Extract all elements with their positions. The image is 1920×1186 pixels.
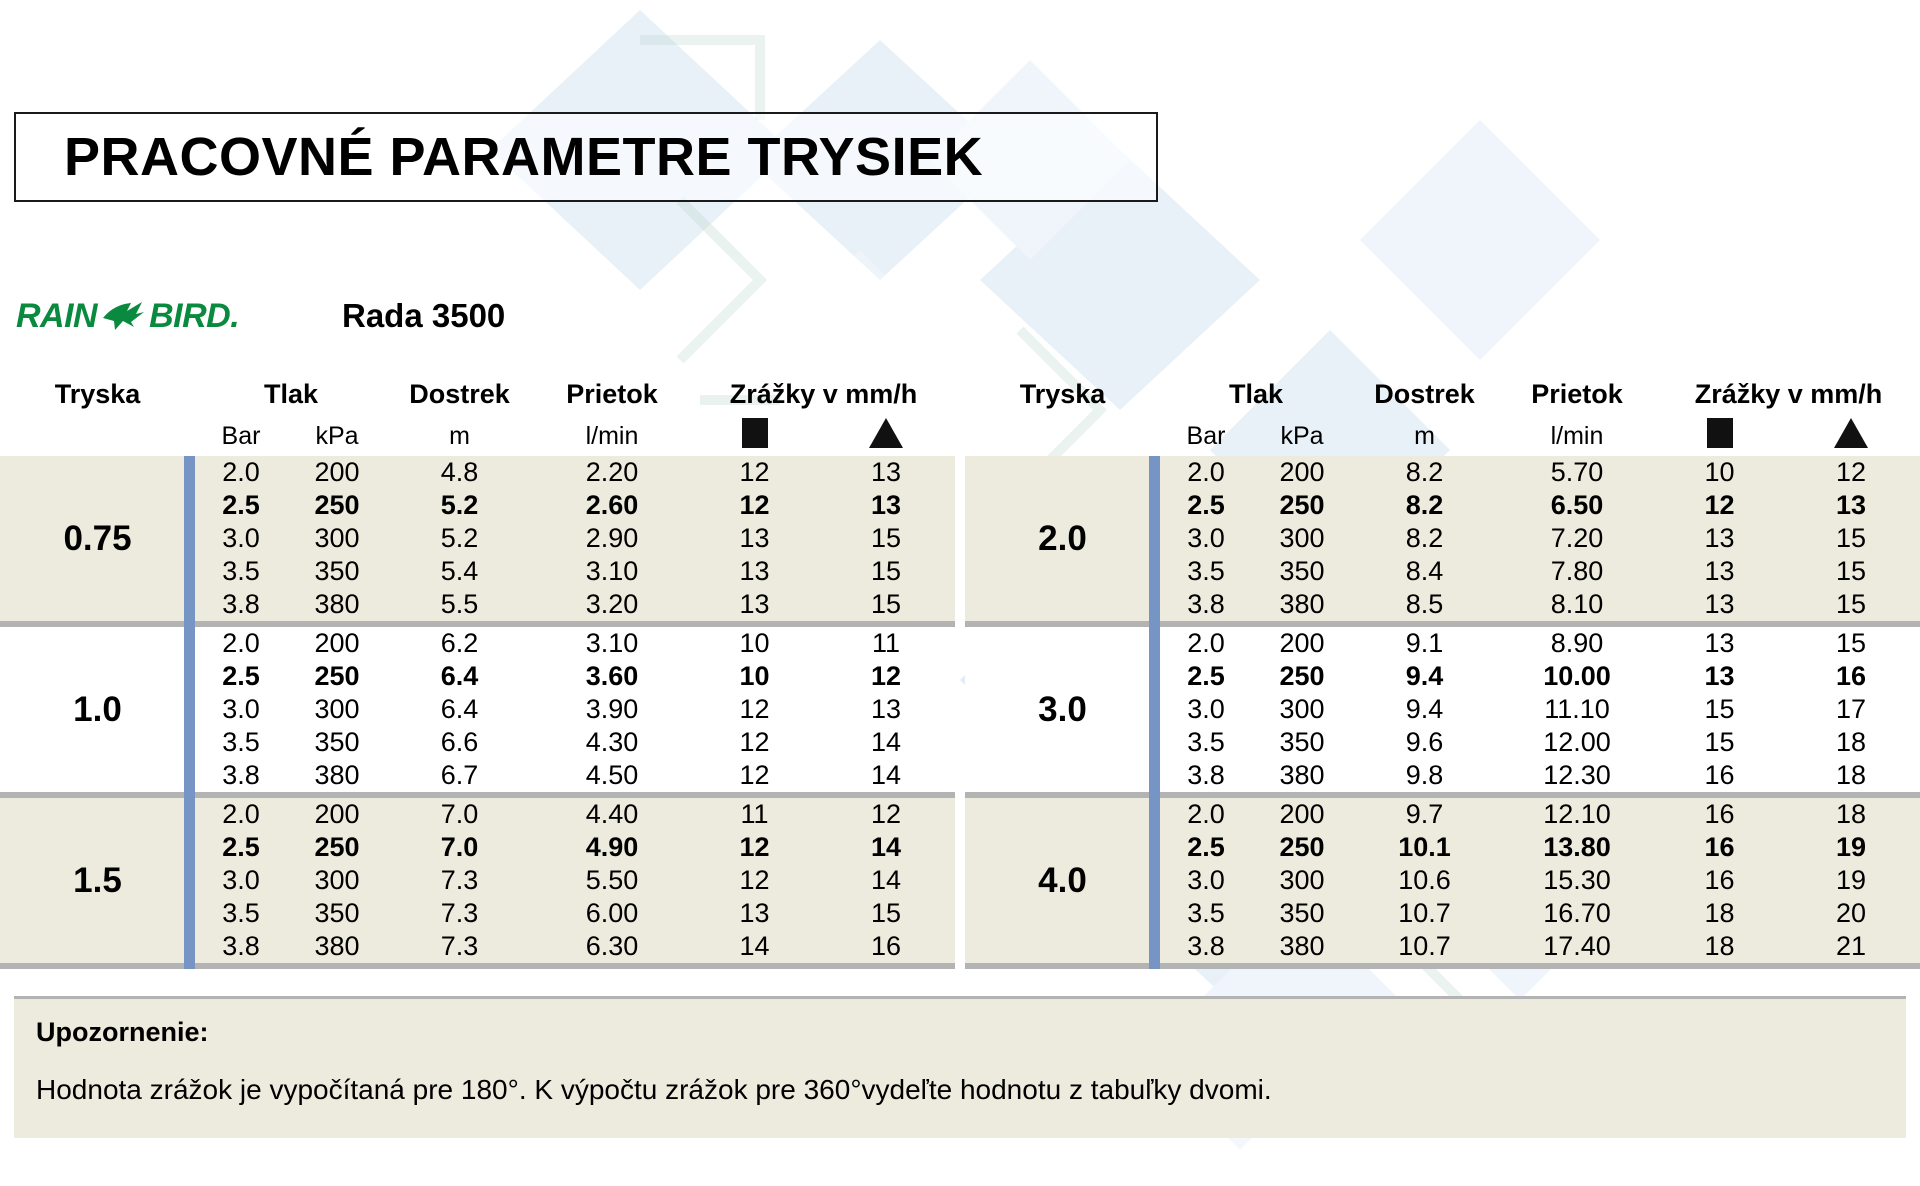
cell-radius: 6.2 [387, 627, 532, 660]
table-row: 4.02.02009.712.101618 [965, 798, 1920, 831]
cell-precip-triangle: 19 [1782, 831, 1920, 864]
cell-precip-triangle: 15 [817, 522, 955, 555]
cell-precip-triangle: 15 [1782, 627, 1920, 660]
cell-precip-square: 13 [1657, 627, 1782, 660]
cell-precip-square: 16 [1657, 864, 1782, 897]
cell-radius: 8.4 [1352, 555, 1497, 588]
cell-bar: 3.0 [195, 522, 287, 555]
cell-precip-triangle: 16 [1782, 660, 1920, 693]
cell-flow: 2.20 [532, 456, 692, 489]
cell-precip-triangle: 20 [1782, 897, 1920, 930]
cell-radius: 8.2 [1352, 489, 1497, 522]
cell-flow: 3.90 [532, 693, 692, 726]
cell-bar: 2.0 [1160, 798, 1252, 831]
cell-flow: 4.50 [532, 759, 692, 792]
bird-icon [101, 300, 145, 337]
cell-flow: 3.60 [532, 660, 692, 693]
cell-precip-triangle: 12 [1782, 456, 1920, 489]
cell-kpa: 380 [1252, 930, 1352, 963]
nozzle-size-cell: 2.0 [965, 456, 1160, 621]
cell-bar: 3.0 [1160, 522, 1252, 555]
cell-flow: 12.30 [1497, 759, 1657, 792]
cell-bar: 2.5 [195, 489, 287, 522]
cell-flow: 10.00 [1497, 660, 1657, 693]
cell-flow: 12.10 [1497, 798, 1657, 831]
cell-radius: 10.1 [1352, 831, 1497, 864]
cell-bar: 2.0 [195, 456, 287, 489]
cell-flow: 8.90 [1497, 627, 1657, 660]
cell-radius: 4.8 [387, 456, 532, 489]
cell-bar: 2.0 [1160, 456, 1252, 489]
table-subheader-row: Bar kPa m l/min [0, 416, 955, 456]
cell-precip-square: 13 [692, 588, 817, 621]
cell-bar: 3.8 [195, 588, 287, 621]
cell-kpa: 250 [1252, 831, 1352, 864]
cell-bar: 3.5 [1160, 555, 1252, 588]
cell-flow: 2.60 [532, 489, 692, 522]
cell-kpa: 380 [287, 588, 387, 621]
table-header-row: Tryska Tlak Dostrek Prietok Zrážky v mm/… [965, 372, 1920, 416]
cell-bar: 3.0 [1160, 693, 1252, 726]
cell-precip-triangle: 14 [817, 864, 955, 897]
cell-kpa: 250 [287, 489, 387, 522]
cell-radius: 6.4 [387, 660, 532, 693]
cell-precip-triangle: 13 [1782, 489, 1920, 522]
cell-kpa: 350 [287, 897, 387, 930]
cell-bar: 3.5 [195, 897, 287, 930]
cell-bar: 2.0 [195, 798, 287, 831]
cell-bar: 2.5 [1160, 489, 1252, 522]
cell-kpa: 350 [1252, 555, 1352, 588]
cell-kpa: 350 [1252, 726, 1352, 759]
cell-precip-triangle: 15 [1782, 522, 1920, 555]
page-title-box: PRACOVNÉ PARAMETRE TRYSIEK [14, 112, 1158, 202]
col-subheader-nozzle-empty [0, 416, 195, 456]
table-row: 1.02.02006.23.101011 [0, 627, 955, 660]
cell-kpa: 300 [287, 864, 387, 897]
cell-precip-triangle: 15 [817, 555, 955, 588]
cell-kpa: 380 [287, 930, 387, 963]
group-separator [965, 963, 1920, 969]
cell-radius: 9.7 [1352, 798, 1497, 831]
col-header-flow: Prietok [532, 372, 692, 416]
col-unit-bar: Bar [195, 416, 287, 456]
square-icon [692, 416, 817, 456]
cell-flow: 3.10 [532, 555, 692, 588]
cell-bar: 3.5 [195, 555, 287, 588]
cell-precip-triangle: 15 [1782, 555, 1920, 588]
cell-precip-triangle: 15 [817, 897, 955, 930]
cell-kpa: 300 [1252, 864, 1352, 897]
cell-precip-triangle: 19 [1782, 864, 1920, 897]
triangle-icon [1782, 416, 1920, 456]
cell-kpa: 250 [287, 831, 387, 864]
cell-bar: 2.0 [195, 627, 287, 660]
cell-radius: 5.2 [387, 522, 532, 555]
cell-radius: 7.3 [387, 864, 532, 897]
triangle-icon [817, 416, 955, 456]
cell-flow: 2.90 [532, 522, 692, 555]
cell-flow: 5.70 [1497, 456, 1657, 489]
cell-kpa: 200 [287, 627, 387, 660]
table-row: 1.52.02007.04.401112 [0, 798, 955, 831]
cell-precip-square: 13 [692, 522, 817, 555]
cell-precip-square: 10 [1657, 456, 1782, 489]
col-unit-m: m [1352, 416, 1497, 456]
cell-precip-square: 10 [692, 660, 817, 693]
group-separator [0, 963, 955, 969]
cell-bar: 2.5 [1160, 660, 1252, 693]
col-header-precip: Zrážky v mm/h [692, 372, 955, 416]
logo-text-bird: BIRD. [149, 299, 239, 333]
series-label: Rada 3500 [342, 297, 505, 335]
cell-kpa: 200 [287, 798, 387, 831]
cell-bar: 3.5 [195, 726, 287, 759]
cell-precip-square: 12 [692, 864, 817, 897]
cell-radius: 9.8 [1352, 759, 1497, 792]
cell-bar: 3.5 [1160, 897, 1252, 930]
cell-precip-square: 12 [692, 759, 817, 792]
cell-kpa: 300 [1252, 693, 1352, 726]
cell-precip-square: 12 [1657, 489, 1782, 522]
cell-flow: 4.30 [532, 726, 692, 759]
col-header-nozzle: Tryska [0, 372, 195, 416]
cell-bar: 3.0 [195, 864, 287, 897]
cell-precip-triangle: 13 [817, 693, 955, 726]
cell-kpa: 300 [287, 522, 387, 555]
cell-radius: 10.7 [1352, 897, 1497, 930]
cell-kpa: 380 [287, 759, 387, 792]
col-header-nozzle: Tryska [965, 372, 1160, 416]
cell-precip-square: 15 [1657, 726, 1782, 759]
cell-precip-square: 13 [692, 897, 817, 930]
cell-precip-triangle: 15 [1782, 588, 1920, 621]
cell-radius: 9.4 [1352, 693, 1497, 726]
col-header-pressure: Tlak [195, 372, 387, 416]
cell-flow: 12.00 [1497, 726, 1657, 759]
cell-radius: 7.3 [387, 897, 532, 930]
table-subheader-row: Bar kPa m l/min [965, 416, 1920, 456]
cell-bar: 2.0 [1160, 627, 1252, 660]
spec-tables: Tryska Tlak Dostrek Prietok Zrážky v mm/… [0, 372, 1920, 969]
cell-kpa: 200 [1252, 627, 1352, 660]
cell-flow: 4.90 [532, 831, 692, 864]
cell-flow: 11.10 [1497, 693, 1657, 726]
cell-radius: 7.0 [387, 831, 532, 864]
table-row: 0.752.02004.82.201213 [0, 456, 955, 489]
cell-radius: 7.3 [387, 930, 532, 963]
cell-flow: 6.50 [1497, 489, 1657, 522]
cell-precip-square: 12 [692, 456, 817, 489]
nozzle-group: 1.02.02006.23.1010112.52506.43.6010123.0… [0, 627, 955, 792]
cell-precip-triangle: 18 [1782, 759, 1920, 792]
cell-flow: 3.10 [532, 627, 692, 660]
cell-precip-square: 13 [1657, 588, 1782, 621]
nozzle-group: 2.02.02008.25.7010122.52508.26.5012133.0… [965, 456, 1920, 621]
cell-precip-triangle: 13 [817, 456, 955, 489]
cell-precip-triangle: 16 [817, 930, 955, 963]
col-unit-lmin: l/min [1497, 416, 1657, 456]
col-unit-kpa: kPa [287, 416, 387, 456]
cell-radius: 9.4 [1352, 660, 1497, 693]
logo-text-rain: RAIN [16, 299, 97, 333]
cell-radius: 5.2 [387, 489, 532, 522]
nozzle-group: 0.752.02004.82.2012132.52505.22.6012133.… [0, 456, 955, 621]
col-header-pressure: Tlak [1160, 372, 1352, 416]
cell-kpa: 250 [1252, 489, 1352, 522]
cell-precip-square: 12 [692, 726, 817, 759]
cell-radius: 8.5 [1352, 588, 1497, 621]
notice-text: Hodnota zrážok je vypočítaná pre 180°. K… [36, 1074, 1884, 1106]
square-icon [1657, 416, 1782, 456]
cell-kpa: 350 [1252, 897, 1352, 930]
cell-precip-triangle: 12 [817, 660, 955, 693]
separator-cell [195, 963, 955, 969]
cell-bar: 3.0 [1160, 864, 1252, 897]
cell-radius: 7.0 [387, 798, 532, 831]
cell-flow: 8.10 [1497, 588, 1657, 621]
cell-precip-square: 11 [692, 798, 817, 831]
cell-kpa: 200 [1252, 456, 1352, 489]
cell-bar: 2.5 [1160, 831, 1252, 864]
cell-flow: 15.30 [1497, 864, 1657, 897]
cell-flow: 7.20 [1497, 522, 1657, 555]
spec-table-right: Tryska Tlak Dostrek Prietok Zrážky v mm/… [965, 372, 1920, 969]
cell-kpa: 200 [287, 456, 387, 489]
cell-precip-square: 16 [1657, 798, 1782, 831]
cell-bar: 3.8 [1160, 759, 1252, 792]
cell-precip-square: 12 [692, 489, 817, 522]
cell-kpa: 250 [287, 660, 387, 693]
cell-precip-square: 18 [1657, 897, 1782, 930]
cell-precip-triangle: 14 [817, 831, 955, 864]
nozzle-group: 4.02.02009.712.1016182.525010.113.801619… [965, 798, 1920, 963]
cell-flow: 16.70 [1497, 897, 1657, 930]
page-title: PRACOVNÉ PARAMETRE TRYSIEK [16, 126, 983, 188]
col-subheader-nozzle-empty [965, 416, 1160, 456]
cell-radius: 10.6 [1352, 864, 1497, 897]
spec-table-left: Tryska Tlak Dostrek Prietok Zrážky v mm/… [0, 372, 955, 969]
nozzle-table-right: Tryska Tlak Dostrek Prietok Zrážky v mm/… [965, 372, 1920, 969]
table-row: 2.02.02008.25.701012 [965, 456, 1920, 489]
cell-flow: 6.30 [532, 930, 692, 963]
cell-bar: 3.8 [195, 930, 287, 963]
separator-nozzle-cell [965, 963, 1160, 969]
cell-precip-triangle: 11 [817, 627, 955, 660]
cell-radius: 6.4 [387, 693, 532, 726]
cell-flow: 4.40 [532, 798, 692, 831]
cell-precip-triangle: 18 [1782, 798, 1920, 831]
cell-precip-square: 12 [692, 831, 817, 864]
cell-flow: 7.80 [1497, 555, 1657, 588]
cell-kpa: 380 [1252, 759, 1352, 792]
nozzle-group: 1.52.02007.04.4011122.52507.04.9012143.0… [0, 798, 955, 963]
cell-radius: 9.6 [1352, 726, 1497, 759]
cell-flow: 5.50 [532, 864, 692, 897]
cell-radius: 6.6 [387, 726, 532, 759]
cell-kpa: 350 [287, 726, 387, 759]
cell-flow: 6.00 [532, 897, 692, 930]
nozzle-size-cell: 3.0 [965, 627, 1160, 792]
col-unit-bar: Bar [1160, 416, 1252, 456]
cell-kpa: 250 [1252, 660, 1352, 693]
cell-radius: 10.7 [1352, 930, 1497, 963]
cell-precip-square: 13 [1657, 555, 1782, 588]
col-header-radius: Dostrek [1352, 372, 1497, 416]
cell-bar: 3.0 [195, 693, 287, 726]
separator-cell [1160, 963, 1920, 969]
col-header-flow: Prietok [1497, 372, 1657, 416]
cell-precip-triangle: 13 [817, 489, 955, 522]
cell-radius: 8.2 [1352, 522, 1497, 555]
table-row: 3.02.02009.18.901315 [965, 627, 1920, 660]
cell-bar: 3.8 [195, 759, 287, 792]
nozzle-size-cell: 1.0 [0, 627, 195, 792]
cell-precip-square: 18 [1657, 930, 1782, 963]
cell-flow: 17.40 [1497, 930, 1657, 963]
nozzle-group: 3.02.02009.18.9013152.52509.410.0013163.… [965, 627, 1920, 792]
col-header-radius: Dostrek [387, 372, 532, 416]
cell-kpa: 380 [1252, 588, 1352, 621]
col-header-precip: Zrážky v mm/h [1657, 372, 1920, 416]
col-unit-m: m [387, 416, 532, 456]
cell-bar: 3.5 [1160, 726, 1252, 759]
cell-precip-square: 16 [1657, 831, 1782, 864]
cell-precip-square: 16 [1657, 759, 1782, 792]
col-unit-lmin: l/min [532, 416, 692, 456]
cell-kpa: 300 [287, 693, 387, 726]
cell-precip-triangle: 12 [817, 798, 955, 831]
notice-label: Upozornenie: [36, 1017, 1884, 1048]
cell-precip-square: 10 [692, 627, 817, 660]
col-unit-kpa: kPa [1252, 416, 1352, 456]
cell-precip-triangle: 14 [817, 726, 955, 759]
cell-radius: 8.2 [1352, 456, 1497, 489]
cell-kpa: 350 [287, 555, 387, 588]
cell-radius: 5.4 [387, 555, 532, 588]
cell-precip-square: 13 [1657, 522, 1782, 555]
cell-precip-triangle: 14 [817, 759, 955, 792]
cell-flow: 3.20 [532, 588, 692, 621]
cell-precip-triangle: 15 [817, 588, 955, 621]
table-header-row: Tryska Tlak Dostrek Prietok Zrážky v mm/… [0, 372, 955, 416]
cell-flow: 13.80 [1497, 831, 1657, 864]
cell-bar: 2.5 [195, 660, 287, 693]
cell-precip-square: 13 [1657, 660, 1782, 693]
cell-radius: 6.7 [387, 759, 532, 792]
cell-kpa: 300 [1252, 522, 1352, 555]
cell-kpa: 200 [1252, 798, 1352, 831]
brand-row: RAIN BIRD. Rada 3500 [16, 288, 916, 344]
cell-bar: 3.8 [1160, 930, 1252, 963]
cell-bar: 2.5 [195, 831, 287, 864]
cell-precip-triangle: 18 [1782, 726, 1920, 759]
cell-bar: 3.8 [1160, 588, 1252, 621]
cell-precip-square: 15 [1657, 693, 1782, 726]
cell-precip-square: 13 [692, 555, 817, 588]
cell-precip-triangle: 17 [1782, 693, 1920, 726]
cell-precip-triangle: 21 [1782, 930, 1920, 963]
cell-radius: 5.5 [387, 588, 532, 621]
nozzle-size-cell: 0.75 [0, 456, 195, 621]
cell-precip-square: 12 [692, 693, 817, 726]
notice-box: Upozornenie: Hodnota zrážok je vypočítan… [14, 996, 1906, 1138]
nozzle-size-cell: 4.0 [965, 798, 1160, 963]
cell-radius: 9.1 [1352, 627, 1497, 660]
nozzle-table-left: Tryska Tlak Dostrek Prietok Zrážky v mm/… [0, 372, 955, 969]
separator-nozzle-cell [0, 963, 195, 969]
cell-precip-square: 14 [692, 930, 817, 963]
rain-bird-logo: RAIN BIRD. [16, 293, 306, 339]
nozzle-size-cell: 1.5 [0, 798, 195, 963]
